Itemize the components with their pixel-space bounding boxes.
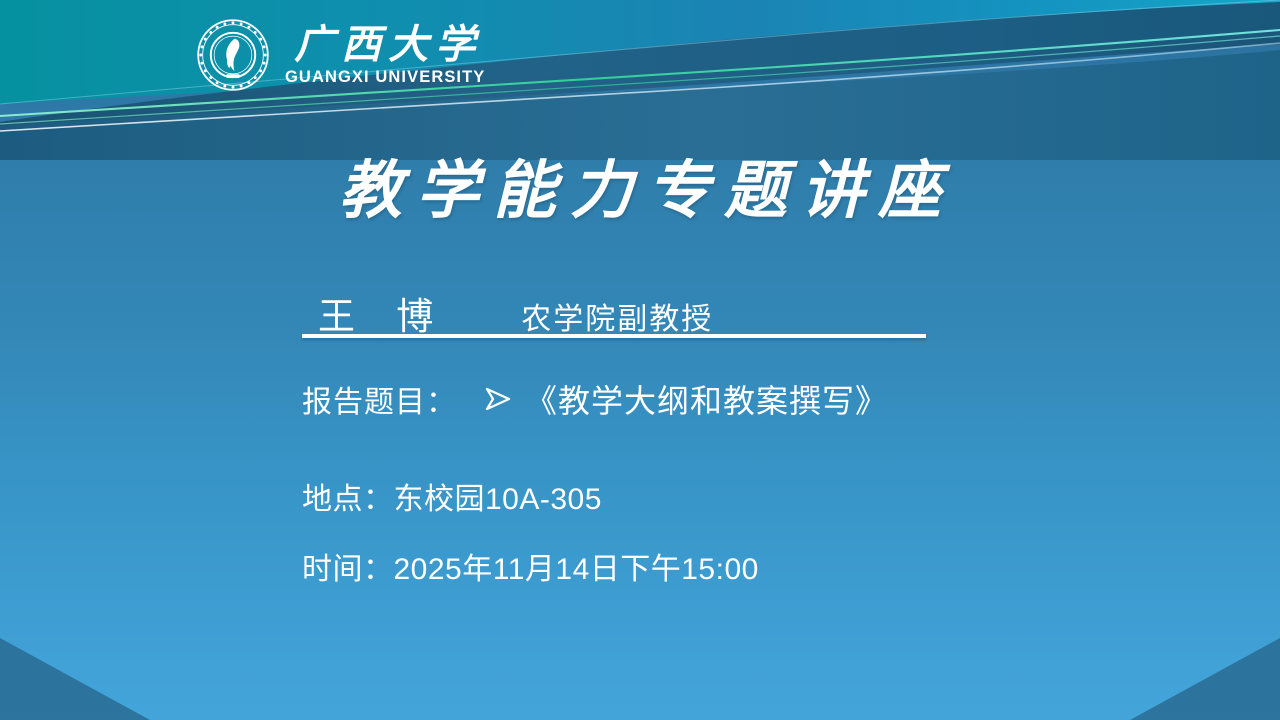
speaker-row: 王 博 农学院副教授 <box>302 286 926 340</box>
presentation-slide: 广西大学 GUANGXI UNIVERSITY 教学能力专题讲座 王 博 农学院… <box>0 0 1280 720</box>
decorative-wave-banner <box>0 0 1280 160</box>
corner-wedge-left <box>0 610 150 720</box>
speaker-role: 农学院副教授 <box>521 294 713 338</box>
hairline-green-2 <box>0 36 1280 124</box>
hairline-green <box>0 30 1280 116</box>
slide-title: 教学能力专题讲座 <box>0 140 1280 231</box>
logo-name-cn: 广西大学 <box>287 23 482 66</box>
corner-wedge-right <box>1130 610 1280 720</box>
report-title-label: 报告题目： <box>302 377 457 421</box>
university-seal-icon <box>196 18 270 92</box>
wave-navy-mid <box>0 2 1280 126</box>
report-title-value: 《教学大纲和教案撰写》 <box>525 376 888 422</box>
wave-teal-upper <box>0 0 1280 104</box>
report-title-row: 报告题目： 《教学大纲和教案撰写》 <box>302 376 888 422</box>
hairline-upper-arc <box>0 0 1280 104</box>
logo-name-en: GUANGXI UNIVERSITY <box>284 68 485 87</box>
speaker-name: 王 博 <box>302 286 449 340</box>
arrow-bullet-icon <box>483 386 513 412</box>
venue-line: 地点：东校园10A-305 <box>302 474 602 518</box>
time-line: 时间：2025年11月14日下午15:00 <box>302 544 759 588</box>
speaker-divider <box>302 334 926 338</box>
hairline-white <box>0 43 1280 131</box>
university-logo: 广西大学 GUANGXI UNIVERSITY <box>196 18 485 92</box>
